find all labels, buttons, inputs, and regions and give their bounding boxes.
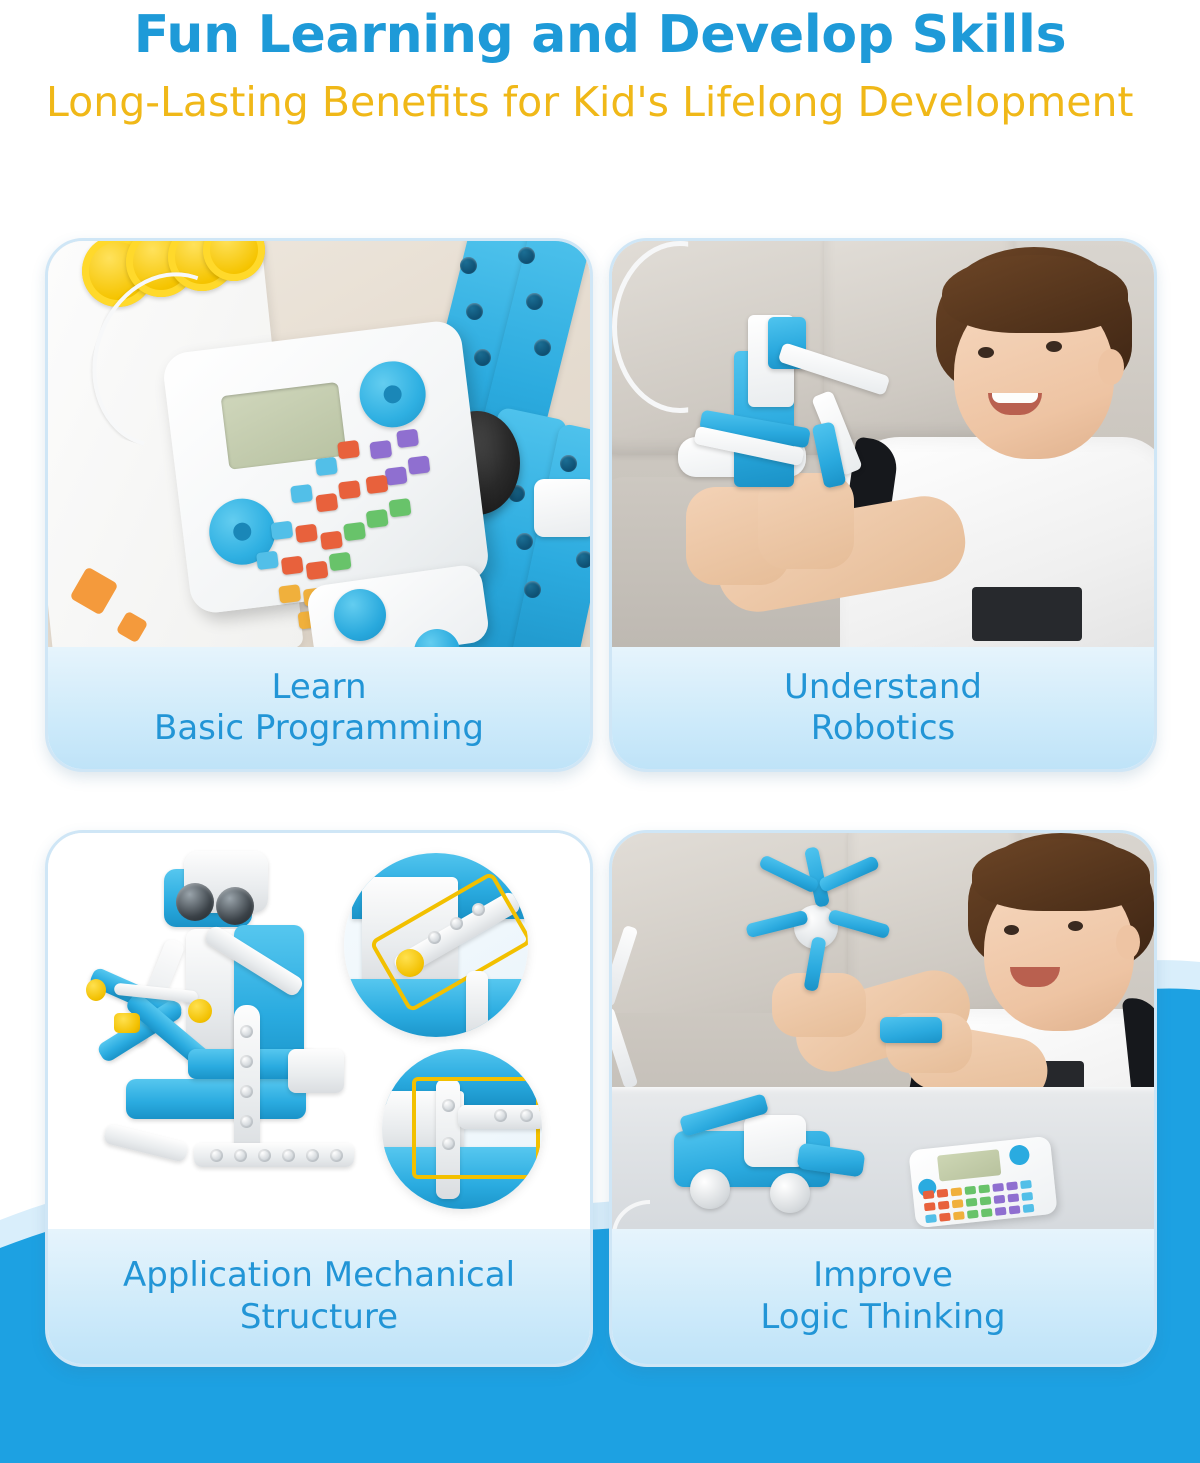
controller-key [343,522,366,541]
controller-key [396,429,419,448]
photo-controller-scene [48,241,590,647]
photo-boy-windmill-scene [612,833,1154,1229]
beam-hole [442,1137,455,1150]
brick-stud [474,349,491,366]
beam-hole [240,1085,253,1098]
controller-keypad-on-table [908,1136,1057,1228]
card-caption-improve-logic-thinking: Improve Logic Thinking [612,1229,1154,1364]
keypad-key [967,1210,979,1219]
detail-zoom-circle-top [344,853,528,1037]
card-caption-understand-robotics: Understand Robotics [612,647,1154,769]
boy-hand-raised [772,973,866,1037]
keypad-key [925,1214,937,1223]
boy-ear [1098,349,1124,385]
keypad-key [964,1186,976,1195]
controller-key [320,531,343,550]
brick-stud [560,455,577,472]
keypad-dial-right [1008,1144,1030,1166]
beam-hole [282,1149,295,1162]
keypad-key [1020,1180,1032,1189]
controller-key [366,475,389,494]
boy-shirt-print [972,587,1082,641]
boy-teeth [992,393,1038,403]
controller-key [306,561,329,580]
beam-hole [240,1025,253,1038]
keypad-key [981,1208,993,1217]
boy-eye-left [978,347,994,358]
benefit-card-learn-basic-programming[interactable]: Learn Basic Programming [45,238,593,772]
caption-line-2: Logic Thinking [760,1297,1005,1338]
white-brick-block [534,479,590,537]
card-caption-application-mechanical-structure: Application Mechanical Structure [48,1229,590,1364]
beam-hole [306,1149,319,1162]
controller-key [389,498,412,517]
beam-hole [450,917,463,930]
brick-stud [526,293,543,310]
motor-dial-1 [334,589,386,641]
controller-key [408,455,431,474]
card-photo-application-mechanical-structure [48,833,590,1229]
controller-key [315,493,338,512]
controller-key [278,584,301,603]
benefit-card-grid: Learn Basic Programming [45,238,1157,1367]
boy-hair-fringe [972,839,1150,911]
robot-eye-right [216,887,254,925]
keypad-key [995,1207,1007,1216]
benefit-card-understand-robotics[interactable]: Understand Robotics [609,238,1157,772]
photo-robot-detail-scene [48,833,590,1229]
keypad-key [953,1211,965,1220]
controller-key [337,440,360,459]
keypad-lcd-screen [937,1149,1001,1181]
card-caption-learn-basic-programming: Learn Basic Programming [48,647,590,769]
keypad-key [1023,1204,1035,1213]
controller-key [385,466,408,485]
page-title: Fun Learning and Develop Skills [46,8,1154,63]
robot-eye-left [176,883,214,921]
controller-key [329,552,352,571]
controller-key [295,524,318,543]
boy-hand-right [758,473,854,569]
boy-eye-right [1068,921,1083,931]
boy-eye-left [1004,925,1019,935]
card-photo-understand-robotics [612,241,1154,647]
robot-foot-left [103,1123,189,1163]
beam-hole [520,1109,533,1122]
beam-hole [240,1055,253,1068]
keypad-key [938,1201,950,1210]
robot-car-wheel-right [770,1173,810,1213]
beam-hole [472,903,485,916]
caption-line-2: Robotics [811,708,955,749]
keypad-key [978,1184,990,1193]
caption-line-2: Basic Programming [154,708,484,749]
yellow-axle-end [86,979,106,1001]
robot-car-wheel-left [690,1169,730,1209]
beam-hole [442,1099,455,1112]
keypad-key [1021,1192,1033,1201]
caption-line-1: Understand [784,667,982,708]
boy-ear [1116,925,1140,959]
robot-base-blue [126,1079,306,1119]
caption-line-2: Structure [240,1297,398,1338]
keypad-key [994,1195,1006,1204]
keypad-key [1006,1181,1018,1190]
keypad-key [952,1199,964,1208]
beam-hole [240,1115,253,1128]
detail-zoom-circle-bottom [382,1049,542,1209]
card-photo-improve-logic-thinking [612,833,1154,1229]
beam-hole [494,1109,507,1122]
caption-line-1: Improve [813,1255,953,1296]
robot-body-white-right [288,1049,344,1093]
keypad-key [923,1190,935,1199]
keypad-key [1009,1205,1021,1214]
brick-stud [534,339,551,356]
brick-stud [518,247,535,264]
keypad-key [924,1202,936,1211]
boy-hair-fringe [942,255,1128,333]
brick-stud [576,551,590,568]
photo-boy-robot-scene [612,241,1154,647]
keypad-key [966,1198,978,1207]
caption-line-1: Application Mechanical [123,1255,515,1296]
handheld-remote [880,1017,942,1043]
controller-key [270,521,293,540]
keypad-key [980,1196,992,1205]
controller-key [369,440,392,459]
beam-hole [428,931,441,944]
controller-key [256,551,279,570]
boy-eye-right [1046,341,1062,352]
controller-key [338,480,361,499]
caption-line-1: Learn [271,667,366,708]
controller-dpad-top [356,358,430,432]
controller-key [290,484,313,503]
controller-key [315,457,338,476]
beam-hole [234,1149,247,1162]
page-header: Fun Learning and Develop Skills Long-Las… [0,0,1200,127]
benefit-card-application-mechanical-structure[interactable]: Application Mechanical Structure [45,830,593,1367]
controller-lcd-screen [221,382,347,470]
keypad-key [950,1187,962,1196]
yellow-connector [114,1013,140,1033]
brick-stud [466,303,483,320]
brick-stud [460,257,477,274]
page-subtitle: Long-Lasting Benefits for Kid's Lifelong… [46,77,1154,127]
yellow-gear-hub [188,999,212,1023]
controller-key [366,509,389,528]
detail-beam-right [466,971,488,1037]
brick-stud [516,533,533,550]
beam-hole [210,1149,223,1162]
card-photo-learn-basic-programming [48,241,590,647]
brick-stud [524,581,541,598]
benefit-card-improve-logic-thinking[interactable]: Improve Logic Thinking [609,830,1157,1367]
detail-yellow-hub [396,949,424,977]
beam-hole [258,1149,271,1162]
keypad-key [937,1189,949,1198]
controller-key [281,556,304,575]
beam-hole [330,1149,343,1162]
keypad-key [939,1213,951,1222]
keypad-key [1007,1193,1019,1202]
keypad-key [992,1183,1004,1192]
